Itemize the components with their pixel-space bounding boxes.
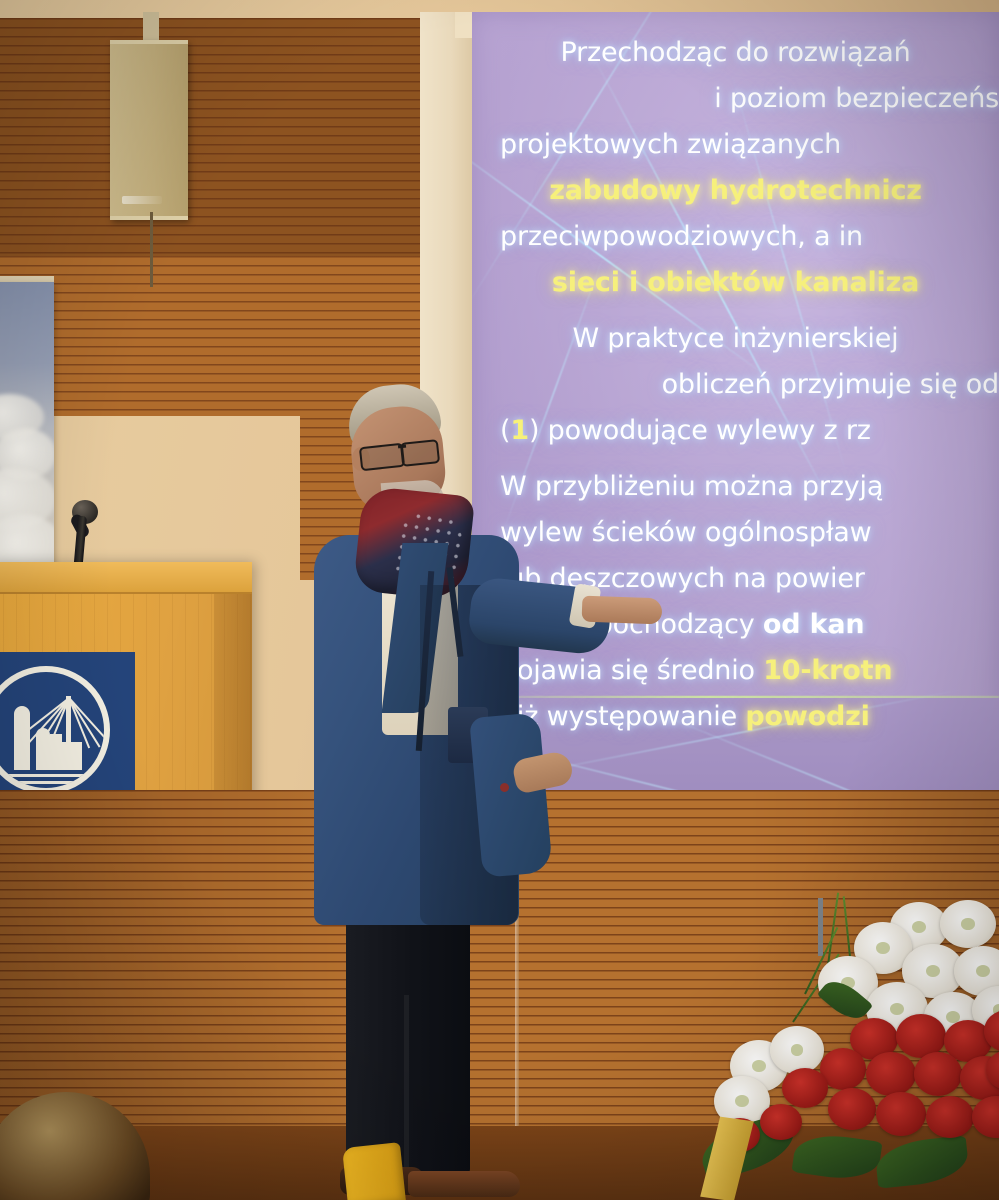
emblem-bridge-cable (68, 697, 110, 744)
emblem-bridge-pylon (66, 696, 71, 770)
red-flower (760, 1104, 802, 1140)
presenter-hand-pointing (582, 596, 663, 625)
slide-text-line: projektowych związanych (472, 122, 999, 168)
slide-text-line: i poziom bezpieczeńs (472, 76, 999, 122)
red-flower (866, 1052, 916, 1096)
emblem-building (36, 728, 50, 770)
auditorium-chair (342, 1142, 406, 1200)
slide-text-emphasis: od kan (763, 609, 864, 640)
presenter-shoe-right (408, 1171, 520, 1197)
red-flower (914, 1052, 962, 1096)
red-flower (828, 1088, 876, 1130)
slide-text-emphasis: sieci i obiektów kanaliza (552, 267, 919, 298)
slide-paragraph: Przechodząc do rozwiązańi poziom bezpiec… (472, 30, 999, 306)
slide-text-line: zabudowy hydrotechnicz (472, 168, 999, 214)
slide-text-line: sieci i obiektów kanaliza (472, 260, 999, 306)
emblem-bridge-cable (68, 698, 90, 749)
slide-text-run: przeciwpowodziowych, a in (500, 221, 863, 252)
red-flower (972, 1096, 999, 1138)
slide-text-line: W praktyce inżynierskiej (472, 316, 999, 362)
slide-text-run: Przechodząc do rozwiązań (560, 37, 910, 68)
slide-text-run: W praktyce inżynierskiej (573, 323, 899, 354)
conference-emblem-icon (0, 666, 110, 794)
loudspeaker-brand-mark (122, 196, 162, 204)
emblem-water-line (0, 781, 100, 784)
slide-text-emphasis: zabudowy hydrotechnicz (549, 175, 922, 206)
conference-photo-scene: Przechodząc do rozwiązańi poziom bezpiec… (0, 0, 999, 1200)
white-flower (940, 900, 996, 948)
slide-text-run: i poziom bezpieczeńs (714, 83, 999, 114)
presenter-sleeve-button (500, 783, 509, 792)
red-flower (926, 1096, 974, 1138)
slide-text-emphasis: powodzi (745, 701, 869, 732)
rollup-banner (0, 282, 54, 572)
foliage-leaf (874, 1135, 970, 1188)
presenter-arm-lower (469, 712, 553, 877)
red-flower (782, 1068, 828, 1108)
presenter-leg-seam (404, 995, 409, 1175)
foliage-leaf (791, 1130, 882, 1184)
presenter-figure (300, 385, 590, 1200)
slide-text-run: obliczeń przyjmuje się od (662, 369, 999, 400)
slide-text-line: Przechodząc do rozwiązań (472, 30, 999, 76)
presenter-glasses-lens-right (400, 439, 440, 467)
loudspeaker-cable (150, 212, 153, 287)
slide-text-emphasis: 10-krotn (763, 655, 892, 686)
floral-arrangement (700, 900, 999, 1200)
slide-text-line: przeciwpowodziowych, a in (472, 214, 999, 260)
red-flower (876, 1092, 926, 1136)
wall-loudspeaker (110, 40, 188, 220)
podium-top-surface (0, 562, 252, 594)
slide-text-run: projektowych związanych (500, 129, 841, 160)
flower-stand-pole (818, 898, 823, 956)
white-flower (770, 1026, 824, 1074)
emblem-building (62, 742, 82, 770)
emblem-water-line (0, 774, 98, 777)
wood-slat-panel-upper-center (300, 18, 420, 256)
